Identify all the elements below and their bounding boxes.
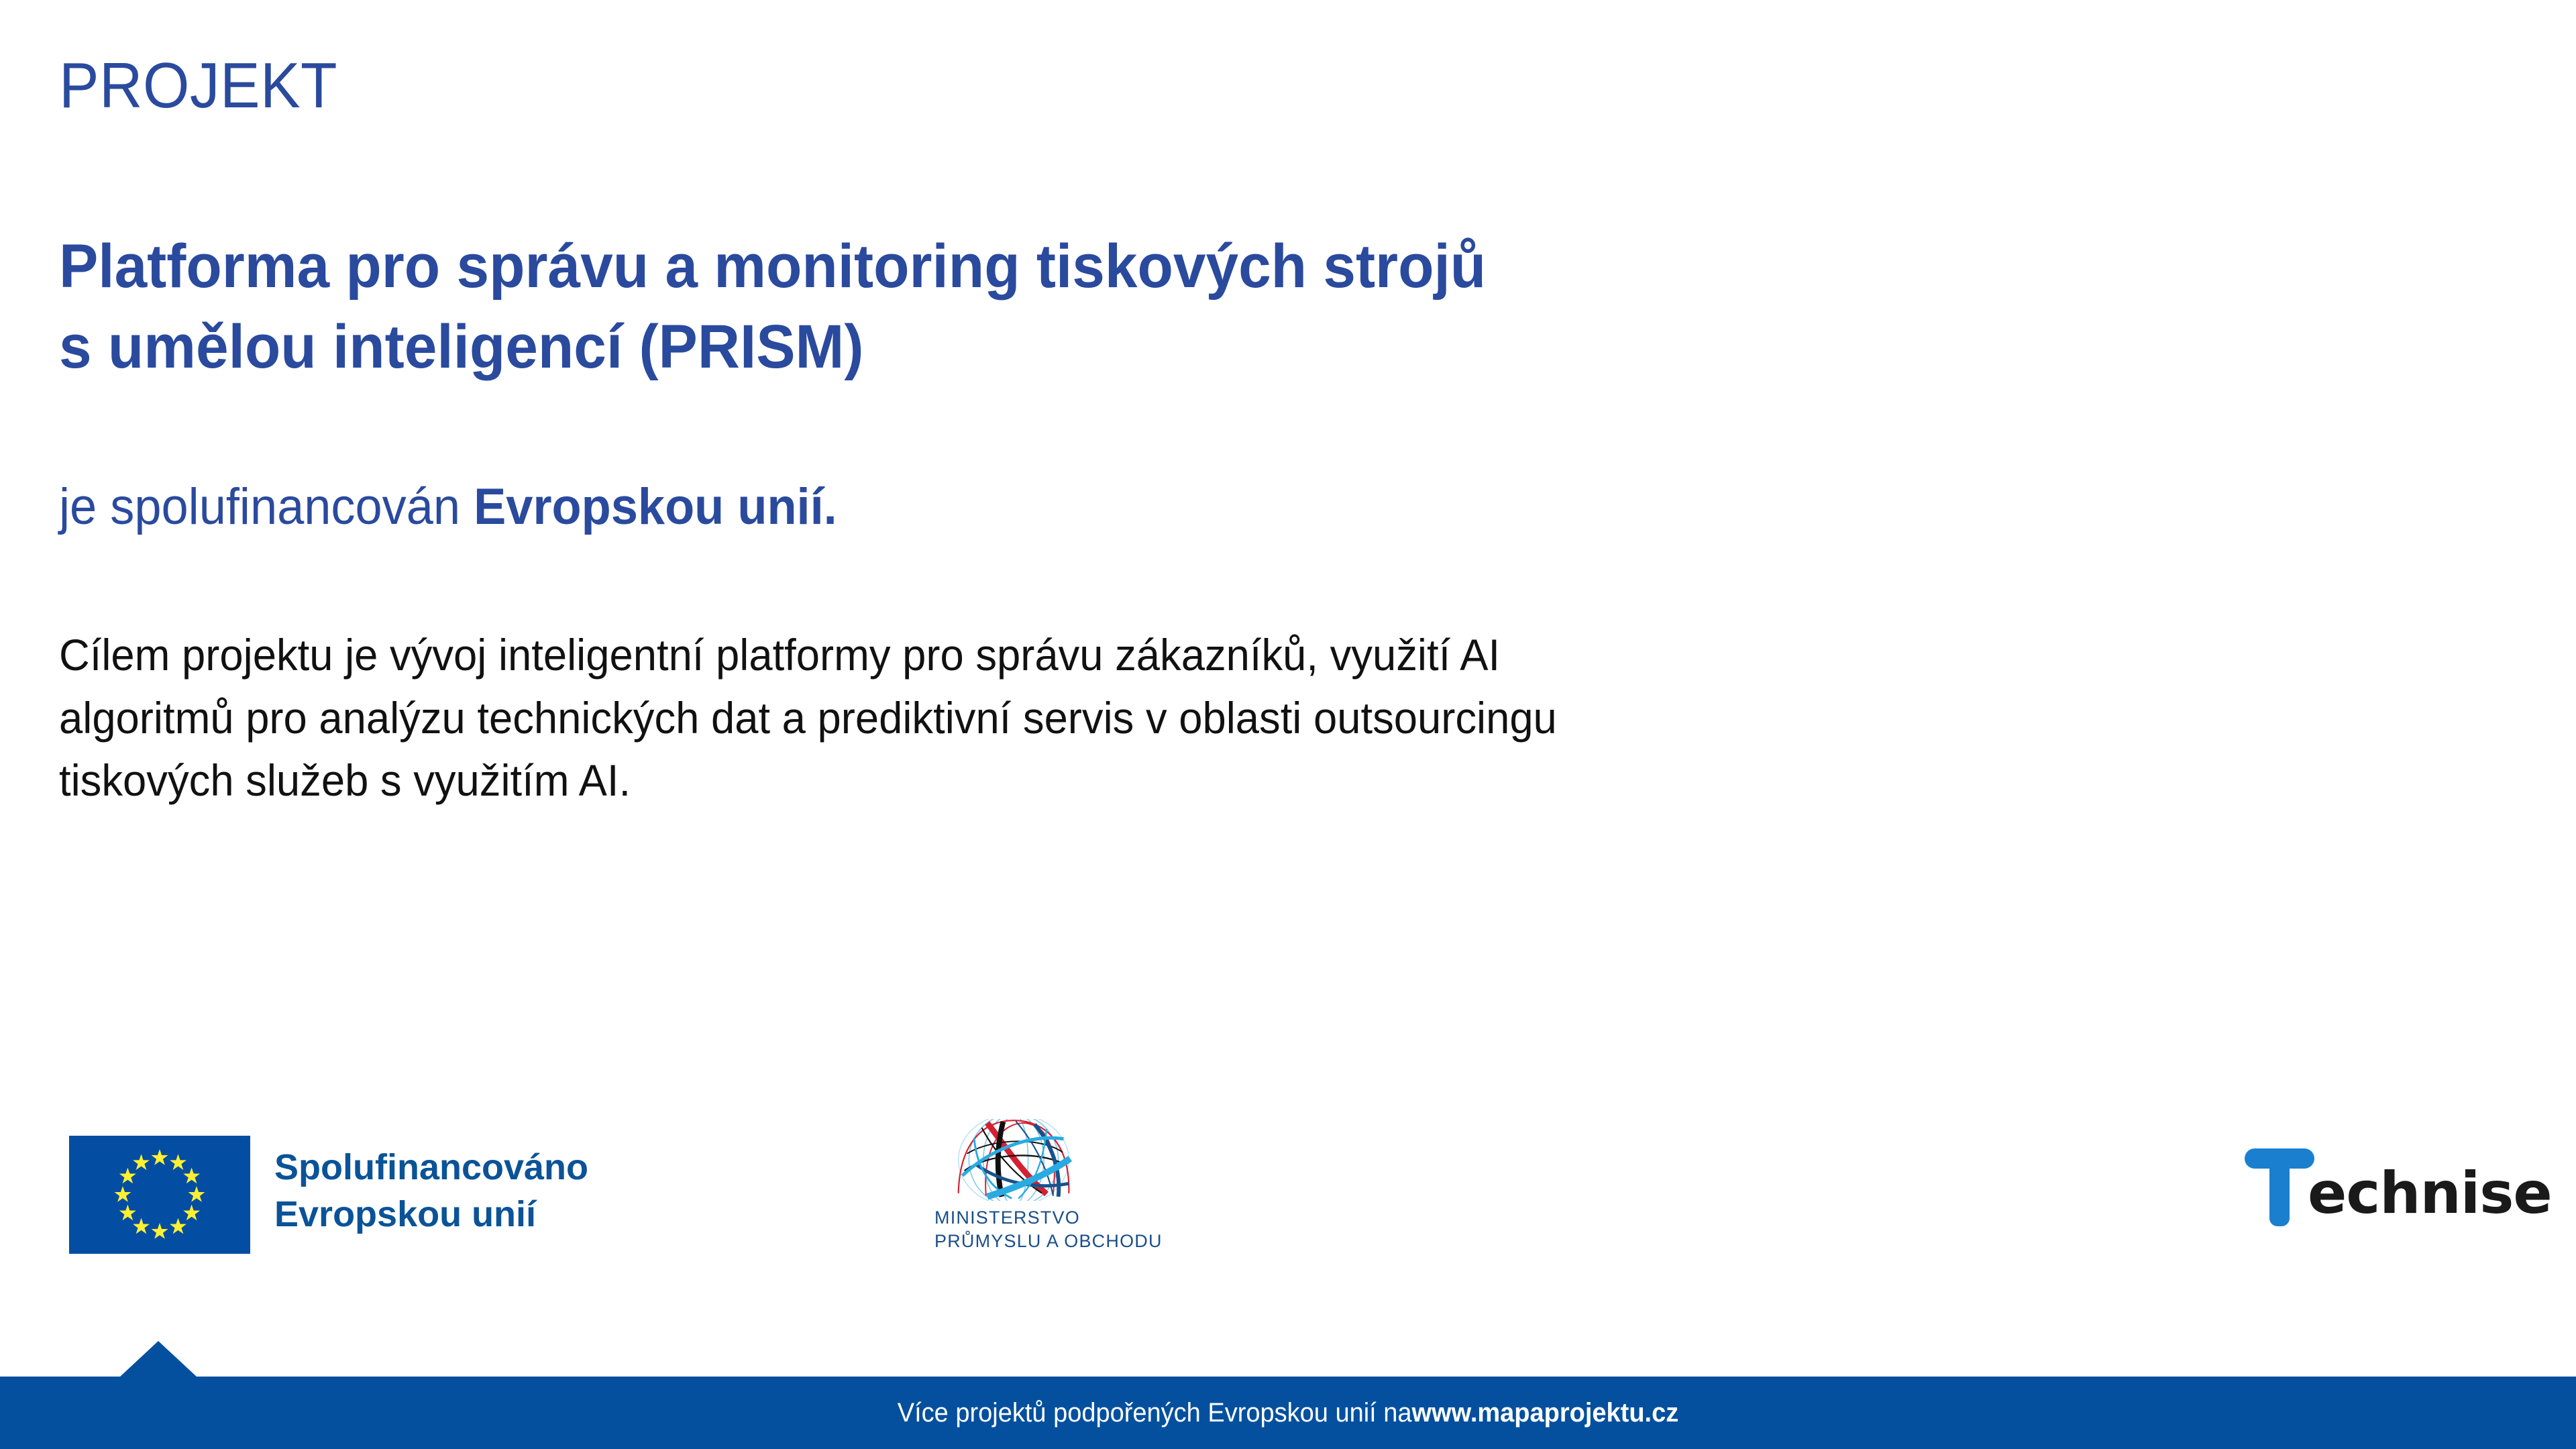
eu-star-icon [114,1186,131,1203]
eu-cofunding-logo: Spolufinancováno Evropskou unií [69,1136,588,1254]
techniservis-wordmark-text: echniservis [2308,1160,2551,1227]
cofunded-statement: je spolufinancován Evropskou unií. [59,475,837,539]
page-eyebrow-title: PROJEKT [59,52,337,120]
ministry-logo: MINISTERSTVO PRŮMYSLU A OBCHODU [934,1119,1216,1252]
eu-caption-line-1: Spolufinancováno [274,1144,588,1191]
project-title-line-2: s umělou inteligencí (PRISM) [59,307,2226,388]
eu-star-icon [188,1186,205,1203]
eu-flag-icon [69,1136,250,1254]
cofunded-prefix: je spolufinancován [59,478,474,535]
eu-star-icon [133,1218,150,1236]
eu-star-icon [151,1223,168,1240]
project-title: Platforma pro správu a monitoring tiskov… [59,227,2226,387]
project-title-line-1: Platforma pro správu a monitoring tiskov… [59,227,2226,307]
globe-icon [948,1119,1079,1201]
project-description: Cílem projektu je vývoj inteligentní pla… [59,624,2339,812]
eu-logo-caption: Spolufinancováno Evropskou unií [274,1136,588,1238]
techniservis-logo: echniservis [2235,1139,2551,1240]
cofunded-emphasis: Evropskou unií. [474,478,837,535]
footer-chevron-icon [119,1341,197,1377]
ministry-caption-line-1: MINISTERSTVO [934,1206,1216,1230]
eu-star-icon [119,1168,136,1185]
logo-strip: Spolufinancováno Evropskou unií [0,1107,2576,1308]
eu-star-icon [151,1149,168,1167]
eu-star-icon [170,1218,187,1236]
ministry-caption-line-2: PRŮMYSLU A OBCHODU [934,1230,1216,1253]
eu-caption-line-2: Evropskou unií [274,1191,588,1238]
ministry-logo-caption: MINISTERSTVO PRŮMYSLU A OBCHODU [934,1206,1216,1252]
eu-star-icon [133,1154,150,1171]
eu-star-icon [183,1168,201,1185]
eu-star-icon [170,1154,187,1171]
footer-note-prefix: Více projektů podpořených Evropskou unií… [898,1398,1412,1428]
techniservis-wordmark-icon: echniservis [2235,1139,2551,1240]
description-line-2: algoritmů pro analýzu technických dat a … [59,687,2339,750]
footer-note: Více projektů podpořených Evropskou unií… [64,1377,2512,1449]
eu-star-icon [183,1205,201,1222]
footer-note-url[interactable]: www.mapaprojektu.cz [1412,1398,1679,1428]
slide-root: PROJEKT Platforma pro správu a monitorin… [0,0,2576,1449]
description-line-3: tiskových služeb s využitím AI. [59,749,2339,812]
eu-star-icon [119,1205,136,1222]
description-line-1: Cílem projektu je vývoj inteligentní pla… [59,624,2339,687]
